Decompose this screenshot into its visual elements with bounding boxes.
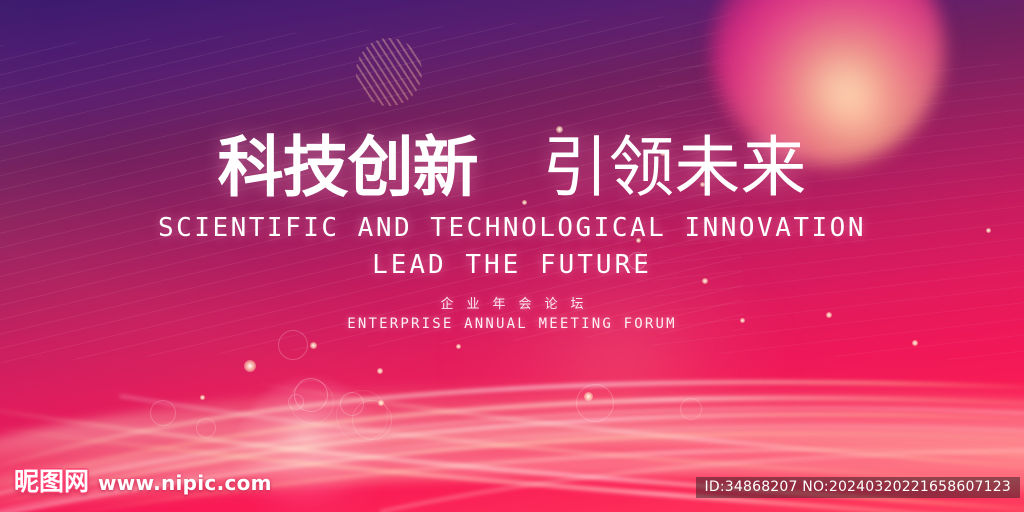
bokeh-ring [196, 418, 216, 438]
sparkle-dot [700, 182, 705, 187]
page-title: 科技创新 引领未来 [0, 130, 1024, 205]
sparkle-dot [584, 392, 593, 401]
sparkle-dot [378, 400, 384, 406]
bokeh-ring [336, 390, 388, 442]
diagonal-hairlines-left [0, 13, 744, 365]
sparkle-dot [377, 368, 383, 374]
bokeh-ring [278, 330, 308, 360]
nipic-url: www.nipic.com [98, 471, 272, 495]
bokeh-ring [340, 392, 364, 416]
striped-circle-icon [356, 38, 422, 106]
subtitle-line-2: LEAD THE FUTURE [0, 249, 1024, 281]
sparkle-dot [826, 312, 832, 318]
forum-name-en: ENTERPRISE ANNUAL MEETING FORUM [0, 316, 1024, 333]
sparkle-dot [310, 342, 317, 349]
bokeh-ring [290, 380, 334, 424]
headline-bold-part: 科技创新 [218, 129, 478, 206]
diagonal-hairlines-right [652, 55, 1024, 364]
bokeh-ring [288, 394, 304, 410]
sparkle-dot [456, 344, 461, 349]
sparkle-dot [660, 150, 666, 156]
center-glow [470, 250, 770, 470]
subtitle-line-1: SCIENTIFIC AND TECHNOLOGICAL INNOVATION [0, 212, 1024, 244]
sparkle-dot [740, 318, 745, 323]
bokeh-ring [352, 400, 392, 440]
sparkle-dot [556, 126, 563, 133]
forum-name-cn: 企业年会论坛 [0, 297, 1024, 313]
large-glow-sphere-core [730, 0, 926, 144]
image-id-badge: ID:34868207 NO:20240320221658607123 [696, 477, 1020, 498]
sparkle-dot [200, 395, 205, 400]
bokeh-ring [150, 400, 176, 426]
nipic-watermark: 昵图网 www.nipic.com [14, 462, 272, 498]
text-block: 科技创新 引领未来 SCIENTIFIC AND TECHNOLOGICAL I… [0, 0, 1024, 512]
bokeh-ring [628, 252, 646, 270]
sparkle-dot [986, 228, 991, 233]
sparkle-dot [702, 278, 708, 284]
sparkle-dot [522, 200, 527, 205]
poster-canvas: 科技创新 引领未来 SCIENTIFIC AND TECHNOLOGICAL I… [0, 0, 1024, 512]
sparkle-dot [244, 360, 256, 372]
large-glow-sphere-icon [712, 0, 944, 166]
headline-light-part: 引领未来 [542, 129, 806, 206]
sparkle-dot [912, 340, 918, 346]
sparkle-dot [636, 238, 641, 243]
nipic-brand-cn: 昵图网 [14, 462, 89, 498]
bokeh-ring [680, 398, 702, 420]
bokeh-ring [576, 384, 614, 422]
bokeh-ring [294, 378, 328, 412]
